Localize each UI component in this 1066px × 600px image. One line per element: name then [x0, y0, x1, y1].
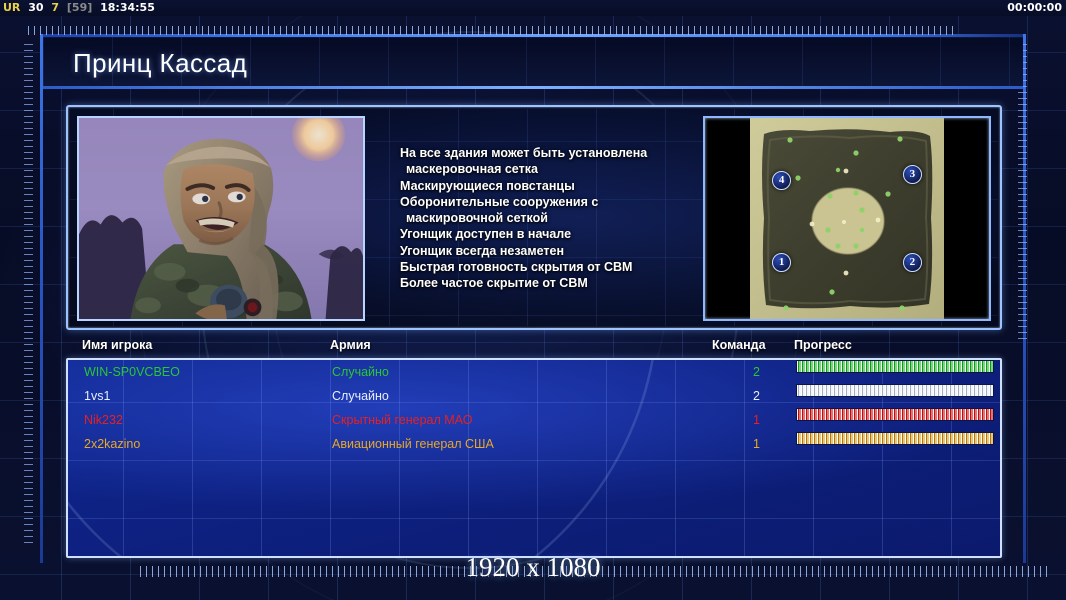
resolution-label: 1920 x 1080 [0, 552, 1066, 583]
table-row[interactable]: Nik232Скрытный генерал МАО1 [68, 408, 1000, 432]
player-list-panel[interactable]: WIN-SP0VCBEOСлучайно21vs1Случайно2Nik232… [66, 358, 1002, 558]
header-army: Армия [330, 338, 371, 352]
player-army: Случайно [332, 384, 389, 408]
header-player-name: Имя игрока [82, 338, 152, 352]
player-progress-bar [796, 360, 994, 373]
description-line: Быстрая готовность скрытия от СВМ [400, 259, 700, 275]
player-progress-bar [796, 384, 994, 397]
header-team: Команда [712, 338, 766, 352]
table-row[interactable]: 1vs1Случайно2 [68, 384, 1000, 408]
map-preview-image [750, 118, 944, 319]
status-prefix: UR [3, 1, 20, 14]
player-name: WIN-SP0VCBEO [84, 360, 180, 384]
status-bar-timer: 00:00:00 [1007, 1, 1062, 14]
player-rows: WIN-SP0VCBEOСлучайно21vs1Случайно2Nik232… [68, 360, 1000, 456]
player-team: 1 [746, 408, 760, 432]
description-line: Угонщик всегда незаметен [400, 243, 700, 259]
description-line: Маскирующиеся повстанцы [400, 178, 700, 194]
frame-left-edge [40, 34, 43, 563]
general-info-panel: На все здания может быть установленамаск… [66, 105, 1002, 330]
description-line: маскировочной сеткой [400, 210, 700, 226]
player-army: Случайно [332, 360, 389, 384]
map-preview-frame: 1234 [703, 116, 991, 321]
player-progress-bar [796, 432, 994, 445]
player-name: 1vs1 [84, 384, 110, 408]
title-bar: Принц Кассад [43, 37, 1023, 89]
ruler-top [28, 26, 958, 35]
status-value-1: 30 [28, 1, 43, 14]
player-army: Скрытный генерал МАО [332, 408, 472, 432]
ruler-right [1018, 44, 1027, 344]
player-team: 2 [746, 360, 760, 384]
status-bar-left: UR 30 7 [59] 18:34:55 [3, 1, 155, 14]
player-army: Авиационный генерал США [332, 432, 494, 456]
player-progress-bar [796, 408, 994, 421]
player-name: Nik232 [84, 408, 123, 432]
description-line: Угонщик доступен в начале [400, 226, 700, 242]
general-portrait-frame [77, 116, 365, 321]
general-info-panel-inner: На все здания может быть установленамаск… [70, 109, 998, 326]
ruler-left [24, 44, 33, 544]
spawn-point-2[interactable]: 2 [903, 253, 922, 272]
status-bracket: [59] [67, 1, 92, 14]
player-progress-fill [797, 433, 993, 444]
description-line: Более частое скрытие от СВМ [400, 275, 700, 291]
page-title: Принц Кассад [73, 37, 1023, 89]
description-line: Оборонительные сооружения с [400, 194, 700, 210]
os-status-bar: UR 30 7 [59] 18:34:55 00:00:00 [0, 0, 1066, 16]
spawn-point-4[interactable]: 4 [772, 171, 791, 190]
player-progress-fill [797, 409, 993, 420]
player-name: 2x2kazino [84, 432, 140, 456]
table-row[interactable]: WIN-SP0VCBEOСлучайно2 [68, 360, 1000, 384]
description-line: На все здания может быть установлена [400, 145, 700, 161]
player-team: 1 [746, 432, 760, 456]
player-progress-fill [797, 361, 993, 372]
header-progress: Прогресс [794, 338, 852, 352]
description-line: маскеровочная сетка [400, 161, 700, 177]
spawn-point-3[interactable]: 3 [903, 165, 922, 184]
status-clock: 18:34:55 [100, 1, 155, 14]
player-table-header: Имя игрока Армия Команда Прогресс [66, 338, 1002, 358]
prince-kassad-portrait [79, 118, 363, 320]
player-team: 2 [746, 384, 760, 408]
player-progress-fill [797, 385, 993, 396]
status-value-2: 7 [51, 1, 59, 14]
table-row[interactable]: 2x2kazinoАвиационный генерал США1 [68, 432, 1000, 456]
general-description-list: На все здания может быть установленамаск… [400, 145, 700, 292]
